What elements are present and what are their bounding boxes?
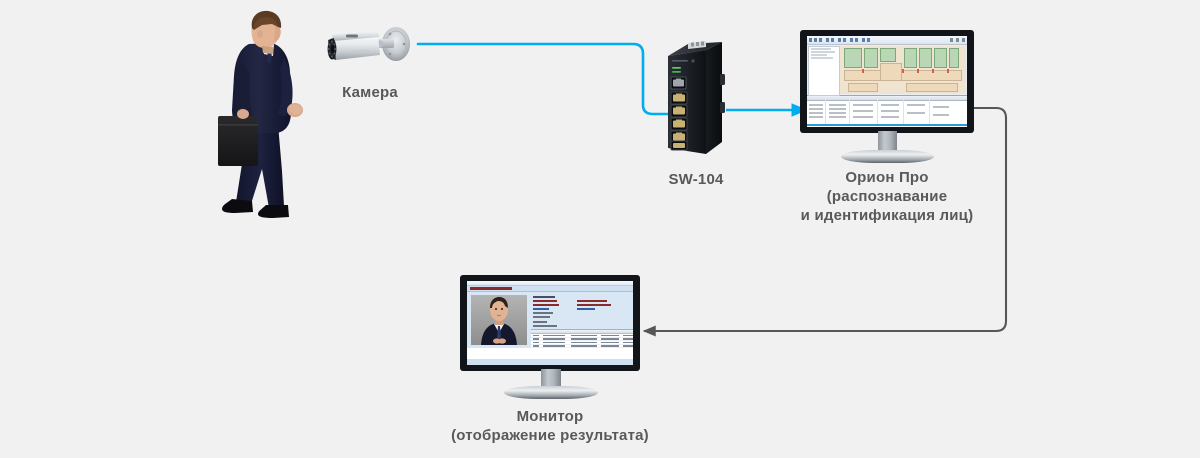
result-monitor-label: Монитор (отображение результата): [400, 407, 700, 445]
table-cell: [571, 345, 597, 347]
tree-item: [811, 51, 835, 53]
camera-label: Камера: [300, 83, 440, 102]
orion-toolbar: [807, 36, 967, 45]
grid-column: [849, 100, 850, 126]
table-cell: [601, 345, 619, 347]
detail-row: [533, 325, 629, 327]
grid-cell: [809, 108, 823, 110]
link-camera-to-switch: [418, 44, 668, 114]
grid-cell: [853, 116, 873, 118]
orion-pro-label: Орион Про (распознавание и идентификация…: [752, 168, 1022, 225]
grid-cell: [907, 104, 925, 106]
grid-cell: [881, 116, 899, 118]
camera-illustration: [320, 22, 420, 74]
monitor-base: [504, 386, 598, 399]
grid-cell: [853, 110, 873, 112]
table-cell: [533, 342, 539, 344]
table-cell: [533, 335, 539, 337]
detail-label: [533, 304, 559, 306]
grid-cell: [809, 116, 823, 118]
grid-cell: [809, 112, 823, 114]
table-cell: [601, 342, 619, 344]
table-cell: [533, 345, 539, 347]
grid-cell: [809, 104, 823, 106]
orion-event-grid: [807, 96, 967, 126]
grid-cell: [853, 104, 873, 106]
plan-door-icon: [902, 69, 904, 73]
toolbar-icon: [855, 38, 858, 42]
table-cell: [623, 335, 633, 337]
detail-row: [533, 296, 629, 298]
plan-room: [949, 48, 959, 68]
table-cell: [623, 342, 633, 344]
grid-cell: [829, 112, 846, 114]
plan-room-lower: [848, 83, 878, 92]
grid-cell: [933, 114, 949, 116]
table-cell: [571, 335, 597, 337]
tree-item: [811, 48, 831, 50]
table-cell: [543, 338, 565, 340]
grid-cell: [881, 110, 899, 112]
detail-value: [577, 300, 607, 302]
detail-link[interactable]: [577, 308, 595, 310]
plan-room: [919, 48, 932, 68]
detail-row: [533, 304, 629, 306]
table-cell: [543, 342, 565, 344]
orion-plan-area: [807, 45, 967, 96]
switch-illustration: [660, 36, 732, 160]
table-cell: [601, 335, 619, 337]
plan-door-icon: [917, 69, 919, 73]
toolbar-icon: [814, 38, 817, 42]
table-cell: [543, 345, 565, 347]
result-monitor: [460, 275, 640, 400]
toolbar-icon: [831, 38, 834, 42]
grid-column: [877, 100, 878, 126]
detail-value: [577, 304, 611, 306]
table-cell: [623, 345, 633, 347]
card-footer: [467, 359, 633, 365]
detail-label: [533, 296, 555, 298]
grid-column: [825, 100, 826, 126]
plan-room: [880, 48, 896, 62]
detail-row: [533, 312, 629, 314]
detail-label: [533, 312, 553, 314]
plan-room: [904, 48, 917, 68]
grid-column: [929, 100, 930, 126]
toolbar-icon: [950, 38, 953, 42]
detail-row: [533, 321, 629, 323]
plan-door-icon: [932, 69, 934, 73]
grid-column: [903, 100, 904, 126]
grid-selected-row: [807, 124, 967, 126]
table-row: [531, 345, 633, 349]
plan-hall: [880, 63, 902, 81]
plan-room: [844, 48, 862, 68]
plan-door-icon: [947, 69, 949, 73]
toolbar-icon: [809, 38, 812, 42]
toolbar-icon: [850, 38, 853, 42]
card-header-text: [470, 287, 512, 290]
detail-row: [533, 316, 629, 318]
toolbar-icon: [867, 38, 870, 42]
toolbar-icon: [838, 38, 841, 42]
switch-label: SW-104: [626, 170, 766, 189]
plan-room: [934, 48, 947, 68]
table-cell: [543, 335, 565, 337]
table-cell: [601, 338, 619, 340]
orion-object-tree: [808, 46, 840, 96]
tree-item: [811, 54, 827, 56]
table-cell: [571, 342, 597, 344]
detail-label: [533, 325, 557, 327]
grid-header: [807, 96, 967, 101]
toolbar-icon: [826, 38, 829, 42]
grid-cell: [829, 108, 846, 110]
plan-door-icon: [862, 69, 864, 73]
detail-label: [533, 316, 550, 318]
detail-link[interactable]: [533, 308, 549, 310]
grid-cell: [907, 112, 925, 114]
orion-floor-plan: [840, 46, 966, 94]
toolbar-icon: [962, 38, 965, 42]
detail-row: [533, 308, 629, 310]
table-cell: [533, 338, 539, 340]
table-cell: [623, 338, 633, 340]
pass-log-table: [531, 329, 633, 348]
monitor-base: [841, 150, 934, 163]
grid-cell: [829, 104, 846, 106]
card-body: [467, 292, 633, 348]
toolbar-icon: [862, 38, 865, 42]
table-cell: [571, 338, 597, 340]
orion-pro-screen: [807, 36, 967, 127]
plan-room-lower: [906, 83, 958, 92]
tree-item: [811, 57, 833, 59]
detail-label: [533, 321, 547, 323]
detail-row: [533, 300, 629, 302]
result-screen: [467, 281, 633, 365]
plan-room: [864, 48, 878, 68]
grid-cell: [933, 106, 949, 108]
toolbar-icon: [956, 38, 959, 42]
grid-cell: [829, 116, 846, 118]
visitor-photo: [471, 295, 527, 345]
visitor-illustration: [196, 6, 328, 224]
diagram-canvas: Камера: [0, 0, 1200, 458]
grid-cell: [881, 104, 899, 106]
toolbar-icon: [843, 38, 846, 42]
detail-label: [533, 300, 557, 302]
toolbar-icon: [819, 38, 822, 42]
orion-pro-monitor: [800, 30, 974, 163]
